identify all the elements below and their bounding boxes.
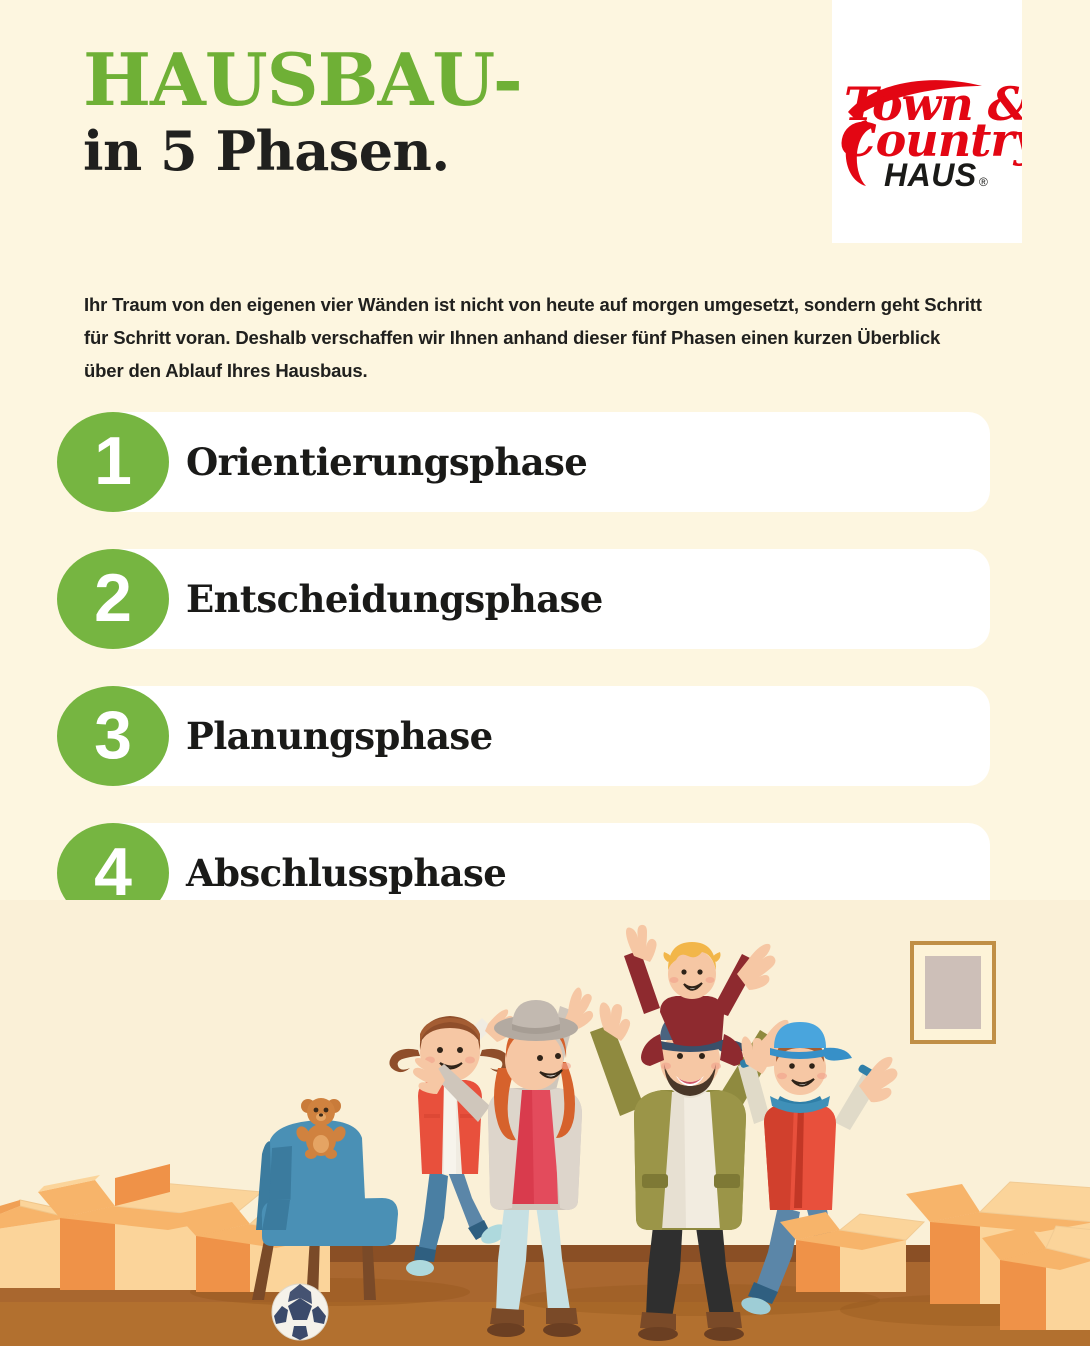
svg-text:®: ® <box>979 175 988 189</box>
picture-frame-inner <box>925 956 981 1029</box>
wall-picture-frame <box>910 941 996 1044</box>
page-title: HAUSBAU- in 5 Phasen. <box>83 42 522 182</box>
phase-badge-1: 1 <box>57 412 169 512</box>
town-country-haus-logo-icon: Town & Country HAUS ® <box>832 0 1022 243</box>
phase-label-1: Orientierungsphase <box>186 412 587 512</box>
svg-text:HAUS: HAUS <box>884 157 977 193</box>
intro-paragraph: Ihr Traum von den eigenen vier Wänden is… <box>84 288 984 387</box>
phase-row-1[interactable]: 1 Orientierungsphase <box>0 412 1090 512</box>
phase-label-2: Entscheidungsphase <box>186 549 603 649</box>
phase-row-3[interactable]: 3 Planungsphase <box>0 686 1090 786</box>
phase-number-3: 3 <box>94 701 132 769</box>
phase-badge-3: 3 <box>57 686 169 786</box>
title-line-2: in 5 Phasen. <box>83 120 522 182</box>
phase-number-2: 2 <box>94 564 132 632</box>
infographic-page: Town & Country HAUS ® HAUSBAU- in 5 Phas… <box>0 0 1090 1346</box>
phase-number-1: 1 <box>94 427 132 495</box>
phase-badge-2: 2 <box>57 549 169 649</box>
title-line-1: HAUSBAU- <box>83 42 522 118</box>
phase-label-3: Planungsphase <box>186 686 493 786</box>
soccer-ball <box>272 1284 328 1340</box>
brand-logo: Town & Country HAUS ® <box>832 0 1022 243</box>
phase-row-2[interactable]: 2 Entscheidungsphase <box>0 549 1090 649</box>
phase-number-4: 4 <box>94 838 132 906</box>
